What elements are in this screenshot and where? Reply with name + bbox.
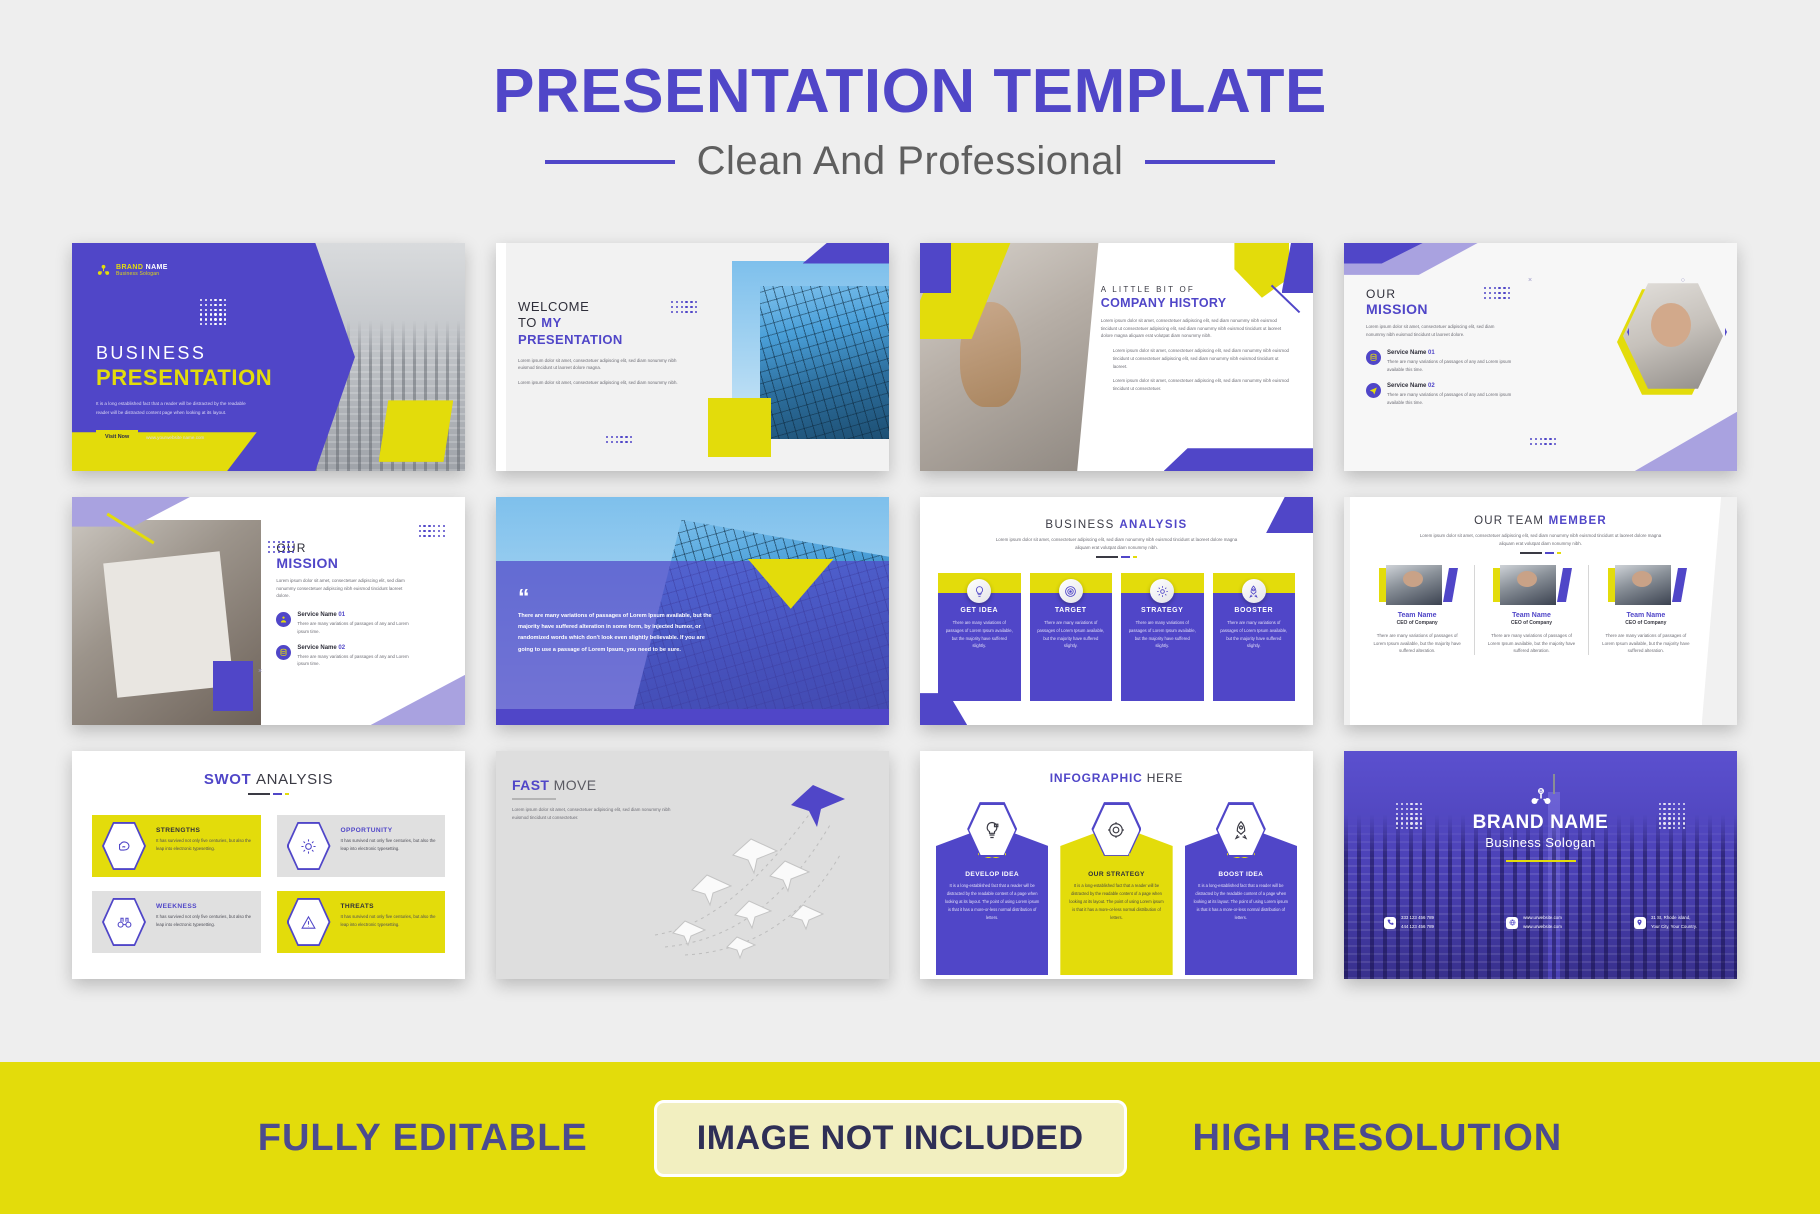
page-subtitle: Clean And Professional [697, 139, 1124, 184]
gear-icon [1150, 579, 1174, 603]
service-desc-1: There are many variations of passages of… [1387, 358, 1515, 373]
visit-now-button[interactable]: Visit Now [96, 430, 138, 444]
slide3-para1: Lorem ipsum dolor sit amet, consectetuer… [1101, 317, 1291, 340]
member-name: Team Name [1370, 612, 1464, 619]
swot-item-strengths[interactable]: STRENGTHS It has survived not only five … [92, 815, 261, 877]
team-member-card[interactable]: Team Name CEO of Company There are many … [1589, 565, 1703, 655]
slide2-para1: Lorem ipsum dolor sit amet, consectetuer… [518, 357, 678, 372]
globe-icon [1506, 917, 1518, 929]
service-name-2: Service Name [1387, 383, 1426, 389]
purple-bottom [1164, 448, 1313, 471]
slide7-title-dark: BUSINESS [1045, 519, 1119, 531]
footer-right: HIGH RESOLUTION [1193, 1117, 1563, 1160]
dot-grid [1484, 287, 1510, 299]
purple-corner [803, 243, 889, 264]
slide3-para3: Lorem ipsum dolor sit amet, consectetuer… [1101, 377, 1291, 392]
card-label: GET IDEA [945, 607, 1014, 614]
slide5-title-line1: OUR [276, 541, 426, 555]
card-label: BOOSTER [1220, 607, 1289, 614]
slide9-title-accent: SWOT [204, 771, 256, 788]
footer-left: FULLY EDITABLE [258, 1117, 588, 1160]
accent-rule [72, 793, 465, 795]
slide-brand-name[interactable]: B BRAND NAME Business Sologan 333 123 45… [1344, 751, 1737, 979]
card-desc: There are many variations of passages of… [1220, 619, 1289, 650]
analysis-card[interactable]: GET IDEA There are many variations of pa… [938, 573, 1021, 701]
lilac-corner-br [371, 675, 465, 725]
infographic-card[interactable]: DEVELOP IDEA It is a long-established fa… [936, 801, 1048, 975]
target-icon [1059, 579, 1083, 603]
analysis-card[interactable]: BOOSTER There are many variations of pas… [1213, 573, 1296, 701]
contact-address: 31 St, Rhode island, Your City, Your Cou… [1634, 914, 1697, 931]
slide-our-mission-right[interactable]: OUR MISSION Lorem ipsum dolor sit amet, … [1344, 243, 1737, 471]
service-number-1: 01 [1428, 350, 1435, 356]
service-name-1: Service Name [297, 612, 336, 618]
analysis-card[interactable]: TARGET There are many variations of pass… [1030, 573, 1113, 701]
logo-icon [96, 263, 111, 278]
swot-label: STRENGTHS [156, 827, 253, 834]
slide1-title-line2: PRESENTATION [96, 365, 321, 391]
coins-icon [1366, 350, 1381, 365]
slide1-website: www.yourwebsite name.com [146, 435, 204, 440]
slide2-title-my: MY [541, 315, 562, 330]
info-label: BOOST IDEA [1193, 871, 1289, 878]
website-line2: www.urwebsite.com [1523, 923, 1562, 931]
purple-block [213, 661, 252, 711]
service-name-1: Service Name [1387, 350, 1426, 356]
swot-label: THREATS [341, 903, 438, 910]
slide-welcome[interactable]: WELCOME TO MY PRESENTATION Lorem ipsum d… [496, 243, 889, 471]
service-item: Service Name 02 There are many variation… [276, 645, 426, 668]
swot-item-opportunity[interactable]: OPPORTUNITY It has survived not only fiv… [277, 815, 446, 877]
paper-planes-graphic [645, 765, 885, 965]
x-marker: × [1528, 277, 1532, 284]
slide4-body: Lorem ipsum dolor sit amet, consectetuer… [1366, 323, 1506, 338]
slide9-title-dark: ANALYSIS [256, 771, 333, 788]
infographic-card[interactable]: OUR STRATEGY It is a long-established fa… [1060, 801, 1172, 975]
slide11-title-accent: INFOGRAPHIC [1050, 771, 1147, 785]
brand-name-light: NAME [146, 264, 168, 271]
website-line1: www.urwebsite.com [1523, 914, 1562, 922]
slide1-title-line1: BUSINESS [96, 343, 321, 364]
info-label: DEVELOP IDEA [944, 871, 1040, 878]
info-label: OUR STRATEGY [1068, 871, 1164, 878]
location-icon [1634, 917, 1646, 929]
brand-name-bold: BRAND [116, 264, 143, 271]
yellow-square [708, 398, 771, 457]
slide-quote[interactable]: “ There are many variations of passages … [496, 497, 889, 725]
address-line1: 31 St, Rhode island, [1651, 914, 1697, 922]
slide11-title-dark: HERE [1147, 771, 1184, 785]
service-desc-2: There are many variations of passages of… [1387, 391, 1515, 406]
accent-rule [1344, 552, 1737, 554]
analysis-card[interactable]: STRATEGY There are many variations of pa… [1121, 573, 1204, 701]
slide7-title-accent: ANALYSIS [1119, 519, 1187, 531]
card-label: STRATEGY [1128, 607, 1197, 614]
swot-label: OPPORTUNITY [341, 827, 438, 834]
logo-icon: B [1529, 785, 1553, 809]
slide-swot-analysis[interactable]: SWOT ANALYSIS STRENGTHS It has survived … [72, 751, 465, 979]
service-number-2: 02 [1428, 383, 1435, 389]
o-marker: ○ [1681, 277, 1685, 284]
team-member-card[interactable]: Team Name CEO of Company There are many … [1474, 565, 1588, 655]
slide-team-member[interactable]: OUR TEAM MEMBER Lorem ipsum dolor sit am… [1344, 497, 1737, 725]
swot-desc: It has survived not only five centuries,… [341, 913, 438, 928]
brand-logo: BRAND NAME Business Sologan [96, 263, 168, 278]
idea-bulb-icon [967, 579, 991, 603]
slide2-title-line3: PRESENTATION [518, 332, 708, 348]
card-desc: There are many variations of passages of… [1037, 619, 1106, 650]
slide3-title: COMPANY HISTORY [1101, 296, 1291, 310]
rule-right [1145, 160, 1275, 164]
info-desc: It is a long-established fact that a rea… [1068, 882, 1164, 922]
member-desc: There are many variations of passages of… [1370, 632, 1464, 655]
address-line2: Your City, Your Country. [1651, 923, 1697, 931]
quote-text: There are many variations of passages of… [518, 611, 713, 656]
slide-grid: BRAND NAME Business Sologan BUSINESS PRE… [72, 243, 1748, 979]
slide4-title-line2: MISSION [1366, 301, 1516, 317]
info-desc: It is a long-established fact that a rea… [1193, 882, 1289, 922]
yellow-accent-right [379, 400, 454, 462]
member-name: Team Name [1485, 612, 1577, 619]
swot-desc: It has survived not only five centuries,… [341, 837, 438, 852]
quote-mark: “ [518, 589, 728, 605]
x-marker: × [258, 668, 262, 675]
service-item: Service Name 02 There are many variation… [1366, 383, 1516, 406]
dot-grid [268, 541, 294, 553]
slide5-title-line2: MISSION [276, 555, 426, 571]
footer-bar: FULLY EDITABLE IMAGE NOT INCLUDED HIGH R… [0, 1062, 1820, 1214]
dot-grid-2 [606, 436, 632, 443]
service-desc-2: There are many variations of passages of… [297, 653, 417, 668]
slide1-body: It is a long established fact that a rea… [96, 400, 256, 417]
accent-rule [920, 556, 1313, 558]
swot-item-threats[interactable]: THREATS It has survived not only five ce… [277, 891, 446, 953]
slide-fast-move[interactable]: FAST MOVE Lorem ipsum dolor sit amet, co… [496, 751, 889, 979]
service-item: Service Name 01 There are many variation… [276, 612, 426, 635]
service-item: Service Name 01 There are many variation… [1366, 350, 1516, 373]
card-label: TARGET [1037, 607, 1106, 614]
subtitle-row: Clean And Professional [0, 139, 1820, 184]
swot-desc: It has survived not only five centuries,… [156, 837, 253, 852]
slide5-body: Lorem ipsum dolor sit amet, consectetuer… [276, 577, 416, 600]
member-desc: There are many variations of passages of… [1485, 632, 1577, 655]
slide3-para2: Lorem ipsum dolor sit amet, consectetuer… [1101, 347, 1291, 370]
slide2-title-to: TO [518, 315, 541, 330]
slide10-title-accent: FAST [512, 777, 554, 793]
dot-grid [200, 299, 226, 325]
people-icon [276, 612, 291, 627]
slide8-title-dark: OUR TEAM [1474, 515, 1548, 527]
slide10-title-dark: MOVE [554, 777, 597, 793]
coins-icon [276, 645, 291, 660]
slide7-subtitle: Lorem ipsum dolor sit amet, consectetuer… [992, 536, 1242, 551]
member-role: CEO of Company [1599, 620, 1693, 626]
brand-slogan: Business Sologan [116, 271, 168, 277]
slide8-subtitle: Lorem ipsum dolor sit amet, consectetuer… [1416, 532, 1666, 547]
slide-company-history[interactable]: A LITTLE BIT OF COMPANY HISTORY Lorem ip… [920, 243, 1313, 471]
swot-label: WEEKNESS [156, 903, 253, 910]
service-desc-1: There are many variations of passages of… [297, 620, 417, 635]
card-desc: There are many variations of passages of… [1128, 619, 1197, 650]
rocket-icon [1242, 579, 1266, 603]
brand-name: BRAND NAME [1344, 812, 1737, 834]
dot-grid-2 [419, 525, 445, 537]
member-desc: There are many variations of passages of… [1599, 632, 1693, 655]
slide3-eyebrow: A LITTLE BIT OF [1101, 285, 1291, 294]
team-member-card[interactable]: Team Name CEO of Company There are many … [1360, 565, 1474, 655]
slide-our-mission-left[interactable]: OUR MISSION Lorem ipsum dolor sit amet, … [72, 497, 465, 725]
service-name-2: Service Name [297, 645, 336, 651]
slide-business-presentation[interactable]: BRAND NAME Business Sologan BUSINESS PRE… [72, 243, 465, 471]
slide-infographic[interactable]: INFOGRAPHIC HERE DEVELOP IDEA It is a lo… [920, 751, 1313, 979]
slide2-para2: Lorem ipsum dolor sit amet, consectetuer… [518, 379, 678, 387]
phone-icon [1384, 917, 1396, 929]
info-desc: It is a long-established fact that a rea… [944, 882, 1040, 922]
infographic-card[interactable]: BOOST IDEA It is a long-established fact… [1185, 801, 1297, 975]
member-role: CEO of Company [1370, 620, 1464, 626]
card-desc: There are many variations of passages of… [945, 619, 1014, 650]
lilac-corner-br [1635, 412, 1737, 471]
phone-line1: 333 123 456 789 [1401, 914, 1434, 922]
page-header: PRESENTATION TEMPLATE Clean And Professi… [0, 0, 1820, 184]
footer-center-badge: IMAGE NOT INCLUDED [654, 1100, 1127, 1177]
rule-left [545, 160, 675, 164]
paper-plane-icon [1366, 383, 1381, 398]
phone-line2: 444 123 456 789 [1401, 923, 1434, 931]
slide-business-analysis[interactable]: BUSINESS ANALYSIS Lorem ipsum dolor sit … [920, 497, 1313, 725]
contact-website: www.urwebsite.com www.urwebsite.com [1506, 914, 1562, 931]
service-number-1: 01 [338, 612, 345, 618]
slide8-title-accent: MEMBER [1549, 515, 1607, 527]
brand-slogan: Business Sologan [1344, 835, 1737, 850]
swot-item-weekness[interactable]: WEEKNESS It has survived not only five c… [92, 891, 261, 953]
contact-phone: 333 123 456 789 444 123 456 789 [1384, 914, 1434, 931]
page-title: PRESENTATION TEMPLATE [0, 56, 1820, 127]
service-number-2: 02 [338, 645, 345, 651]
dot-grid [671, 301, 697, 313]
swot-desc: It has survived not only five centuries,… [156, 913, 253, 928]
dot-grid-2 [1530, 438, 1556, 445]
member-role: CEO of Company [1485, 620, 1577, 626]
purple-corner-left [920, 243, 951, 293]
member-name: Team Name [1599, 612, 1693, 619]
